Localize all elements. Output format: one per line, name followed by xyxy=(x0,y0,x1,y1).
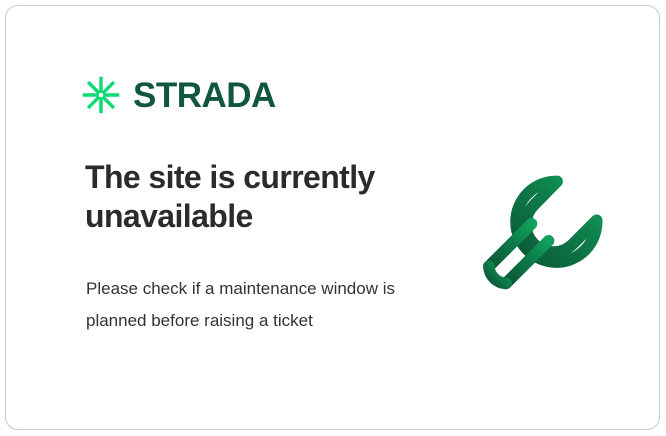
brand-lockup: STRADA xyxy=(82,76,276,114)
page-title: The site is currently unavailable xyxy=(85,158,415,236)
brand-wordmark: STRADA xyxy=(133,78,276,113)
status-card: STRADA The site is currently unavailable… xyxy=(5,5,660,430)
asterisk-star-icon xyxy=(82,76,120,114)
wrench-icon xyxy=(461,161,616,316)
page-root: STRADA The site is currently unavailable… xyxy=(0,0,666,436)
status-description: Please check if a maintenance window is … xyxy=(86,273,401,337)
